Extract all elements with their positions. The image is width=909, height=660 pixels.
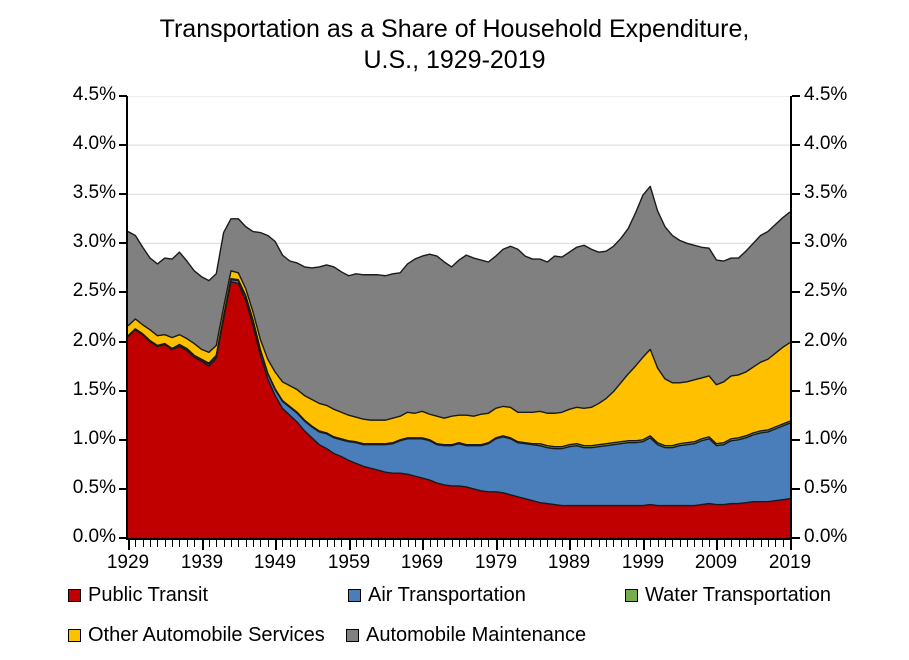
x-axis-tick-label: 1999 [608, 552, 678, 574]
x-tick-minor [444, 540, 445, 547]
legend-item-other-automobile-services[interactable]: Other Automobile Services [68, 620, 325, 650]
x-tick-minor [481, 540, 482, 547]
y-tick-left [119, 291, 127, 293]
legend-swatch-icon [346, 629, 359, 642]
x-tick-minor [297, 540, 298, 547]
x-tick-minor [290, 540, 291, 547]
y-axis-tick-label-left: 1.0% [62, 428, 116, 450]
x-tick-minor [194, 540, 195, 547]
x-tick-major [202, 540, 204, 550]
x-tick-minor [319, 540, 320, 547]
x-tick-minor [371, 540, 372, 547]
y-tick-right [792, 291, 800, 293]
x-tick-minor [621, 540, 622, 547]
y-axis-spine-right [790, 96, 792, 539]
x-tick-minor [783, 540, 784, 547]
y-axis-tick-label-left: 0.5% [62, 477, 116, 499]
x-tick-minor [613, 540, 614, 547]
y-tick-right [792, 390, 800, 392]
y-axis-tick-label-left: 2.0% [62, 330, 116, 352]
x-tick-minor [510, 540, 511, 547]
x-tick-minor [768, 540, 769, 547]
x-tick-minor [591, 540, 592, 547]
x-tick-minor [179, 540, 180, 547]
x-axis-tick-label: 2009 [681, 552, 751, 574]
x-tick-minor [724, 540, 725, 547]
y-tick-left [119, 95, 127, 97]
x-tick-minor [400, 540, 401, 547]
y-axis-tick-label-right: 0.5% [804, 477, 864, 499]
y-tick-right [792, 95, 800, 97]
x-tick-major [275, 540, 277, 550]
x-tick-minor [341, 540, 342, 547]
y-tick-right [792, 439, 800, 441]
x-tick-minor [231, 540, 232, 547]
x-tick-minor [165, 540, 166, 547]
x-tick-minor [334, 540, 335, 547]
x-tick-minor [312, 540, 313, 547]
x-tick-minor [533, 540, 534, 547]
x-tick-minor [466, 540, 467, 547]
x-tick-minor [363, 540, 364, 547]
y-axis-spine-left [126, 96, 128, 539]
legend-label: Automobile Maintenance [366, 625, 586, 645]
x-axis-tick-label: 1949 [240, 552, 310, 574]
x-tick-minor [775, 540, 776, 547]
y-tick-right [792, 144, 800, 146]
y-axis-tick-label-left: 4.5% [62, 84, 116, 106]
x-tick-minor [540, 540, 541, 547]
x-tick-minor [525, 540, 526, 547]
y-tick-right [792, 537, 800, 539]
x-tick-minor [606, 540, 607, 547]
y-axis-tick-label-left: 4.0% [62, 133, 116, 155]
x-tick-minor [437, 540, 438, 547]
x-tick-minor [753, 540, 754, 547]
y-tick-right [792, 341, 800, 343]
x-tick-major [643, 540, 645, 550]
legend-swatch-icon [68, 589, 81, 602]
x-tick-minor [305, 540, 306, 547]
y-tick-right [792, 242, 800, 244]
x-tick-minor [157, 540, 158, 547]
x-tick-minor [555, 540, 556, 547]
stacked-area-plot [128, 96, 790, 538]
y-tick-left [119, 439, 127, 441]
x-tick-minor [393, 540, 394, 547]
y-tick-left [119, 537, 127, 539]
x-axis-tick-label: 2019 [755, 552, 825, 574]
legend-label: Air Transportation [368, 585, 526, 605]
x-tick-minor [599, 540, 600, 547]
x-tick-minor [282, 540, 283, 547]
x-tick-minor [459, 540, 460, 547]
x-tick-minor [253, 540, 254, 547]
x-tick-minor [503, 540, 504, 547]
x-axis-tick-label: 1979 [461, 552, 531, 574]
x-tick-minor [709, 540, 710, 547]
x-tick-minor [518, 540, 519, 547]
y-axis-tick-label-right: 0.0% [804, 526, 864, 548]
x-tick-minor [430, 540, 431, 547]
x-tick-minor [209, 540, 210, 547]
x-tick-minor [474, 540, 475, 547]
x-tick-minor [658, 540, 659, 547]
legend-swatch-icon [348, 589, 361, 602]
x-tick-minor [356, 540, 357, 547]
plot-area [128, 96, 790, 538]
x-tick-minor [680, 540, 681, 547]
y-tick-left [119, 341, 127, 343]
x-tick-minor [187, 540, 188, 547]
x-tick-minor [636, 540, 637, 547]
y-axis-tick-label-right: 1.5% [804, 379, 864, 401]
x-tick-minor [746, 540, 747, 547]
legend-row: Public TransitAir TransportationWater Tr… [68, 580, 898, 610]
y-tick-right [792, 193, 800, 195]
x-tick-minor [260, 540, 261, 547]
x-tick-major [569, 540, 571, 550]
chart-title: Transportation as a Share of Household E… [0, 14, 909, 76]
chart-legend: Public TransitAir TransportationWater Tr… [68, 580, 898, 650]
x-tick-minor [246, 540, 247, 547]
x-tick-minor [577, 540, 578, 547]
y-tick-left [119, 193, 127, 195]
legend-swatch-icon [68, 629, 81, 642]
y-tick-left [119, 242, 127, 244]
y-tick-left [119, 488, 127, 490]
chart-container: Transportation as a Share of Household E… [0, 0, 909, 660]
x-tick-minor [415, 540, 416, 547]
x-tick-major [128, 540, 130, 550]
x-axis-tick-label: 1929 [93, 552, 163, 574]
x-tick-major [716, 540, 718, 550]
legend-item-water-transportation[interactable]: Water Transportation [625, 580, 831, 610]
x-tick-minor [385, 540, 386, 547]
x-tick-minor [650, 540, 651, 547]
x-axis-tick-label: 1989 [534, 552, 604, 574]
x-tick-major [422, 540, 424, 550]
x-axis-tick-label: 1969 [387, 552, 457, 574]
chart-title-line-2: U.S., 1929-2019 [363, 46, 545, 74]
x-tick-minor [150, 540, 151, 547]
x-tick-minor [224, 540, 225, 547]
x-tick-minor [327, 540, 328, 547]
y-axis-tick-label-right: 3.0% [804, 231, 864, 253]
y-tick-left [119, 390, 127, 392]
x-tick-minor [687, 540, 688, 547]
x-axis-tick-label: 1959 [314, 552, 384, 574]
chart-title-line-1: Transportation as a Share of Household E… [160, 15, 750, 43]
x-tick-minor [584, 540, 585, 547]
legend-item-automobile-maintenance[interactable]: Automobile Maintenance [346, 620, 586, 650]
x-tick-minor [547, 540, 548, 547]
legend-label: Water Transportation [645, 585, 831, 605]
x-axis-tick-label: 1939 [167, 552, 237, 574]
y-axis-tick-label-left: 3.5% [62, 182, 116, 204]
x-tick-major [790, 540, 792, 550]
x-tick-minor [665, 540, 666, 547]
x-tick-minor [408, 540, 409, 547]
x-tick-minor [672, 540, 673, 547]
y-axis-tick-label-right: 4.0% [804, 133, 864, 155]
x-tick-minor [739, 540, 740, 547]
legend-item-air-transportation[interactable]: Air Transportation [348, 580, 526, 610]
legend-swatch-icon [625, 589, 638, 602]
legend-item-public-transit[interactable]: Public Transit [68, 580, 208, 610]
y-tick-left [119, 144, 127, 146]
y-axis-tick-label-left: 0.0% [62, 526, 116, 548]
x-tick-minor [238, 540, 239, 547]
x-tick-minor [562, 540, 563, 547]
x-tick-major [496, 540, 498, 550]
y-axis-tick-label-right: 3.5% [804, 182, 864, 204]
y-axis-tick-label-left: 1.5% [62, 379, 116, 401]
legend-label: Other Automobile Services [88, 625, 325, 645]
x-tick-minor [488, 540, 489, 547]
x-tick-major [349, 540, 351, 550]
x-tick-minor [143, 540, 144, 547]
y-axis-tick-label-left: 2.5% [62, 280, 116, 302]
x-tick-minor [452, 540, 453, 547]
y-axis-tick-label-right: 2.0% [804, 330, 864, 352]
y-axis-tick-label-right: 1.0% [804, 428, 864, 450]
legend-label: Public Transit [88, 585, 208, 605]
x-tick-minor [628, 540, 629, 547]
y-axis-tick-label-left: 3.0% [62, 231, 116, 253]
x-tick-minor [172, 540, 173, 547]
x-tick-minor [731, 540, 732, 547]
x-tick-minor [761, 540, 762, 547]
x-tick-minor [378, 540, 379, 547]
x-tick-minor [135, 540, 136, 547]
x-tick-minor [702, 540, 703, 547]
x-tick-minor [216, 540, 217, 547]
x-tick-minor [268, 540, 269, 547]
y-axis-tick-label-right: 2.5% [804, 280, 864, 302]
y-axis-tick-label-right: 4.5% [804, 84, 864, 106]
y-tick-right [792, 488, 800, 490]
legend-row: Other Automobile ServicesAutomobile Main… [68, 620, 898, 650]
x-tick-minor [694, 540, 695, 547]
